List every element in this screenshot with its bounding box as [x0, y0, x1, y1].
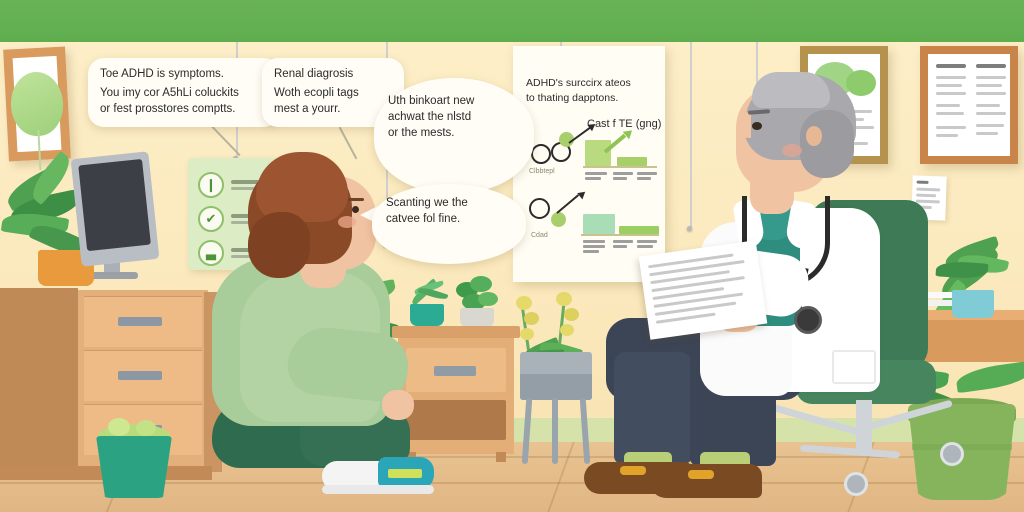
balloon-frame-left [3, 46, 71, 161]
chart-icon: ▃ [198, 240, 224, 266]
header-band [0, 0, 1024, 42]
cabinet-side [0, 288, 78, 478]
bubble-line: Uth binkoart new [388, 94, 520, 110]
poster-headline: ADHD's surccirx ateos to thating dappton… [526, 76, 631, 106]
bubble-assessment: Uth binkoart new achwat the nlstd or the… [374, 78, 534, 194]
bar [585, 140, 611, 166]
pin-icon [687, 226, 692, 231]
desktop-monitor [71, 151, 160, 267]
bubble-line: Toe ADHD is symptoms. [100, 67, 268, 83]
bubble-line: or fest prosstores comptts. [100, 102, 268, 118]
bubble-line: achwat the nlstd [388, 110, 520, 126]
bubble-line: Woth ecopli tags [274, 86, 392, 102]
teal-pot [96, 436, 172, 498]
bar [583, 214, 615, 234]
bubble-line: mest a yourr. [274, 102, 392, 118]
stethoscope-chestpiece [794, 306, 822, 334]
clipboard-icon: ❙ [198, 172, 224, 198]
bubble-line: Renal diagrosis [274, 67, 392, 83]
monitor-base [88, 272, 138, 279]
chair-caster [844, 472, 868, 496]
bubble-patient: Scanting we the catvee fol fine. [372, 184, 526, 264]
clipboard-document[interactable] [639, 240, 768, 340]
node-hollow [529, 198, 550, 219]
patient-eye [352, 206, 359, 213]
coat-pocket [832, 350, 876, 384]
monitor-screen [78, 159, 151, 251]
arrow-head-icon [577, 189, 588, 200]
arrow-line [556, 194, 579, 214]
bubble-left-intake: Toe ADHD is symptoms. You imy cor A5hLi … [88, 58, 280, 127]
bubble-line: You imy cor A5hLi coluckits [100, 86, 268, 102]
bar [617, 157, 647, 166]
grey-plant-stand [520, 352, 592, 462]
node-hollow [531, 144, 551, 164]
cabinet-drawer[interactable] [84, 296, 202, 347]
bubble-line: or the mests. [388, 126, 520, 142]
patient-hand [382, 390, 414, 420]
adhd-info-poster: ADHD's surccirx ateos to thating dappton… [513, 46, 665, 282]
hanging-wire [690, 42, 692, 228]
nightstand-handle[interactable] [434, 366, 476, 376]
illustration-canvas: ADHD Diagnosis Proceess [0, 0, 1024, 512]
doctor-eye [752, 122, 762, 130]
cabinet-drawer[interactable] [84, 350, 202, 401]
node-filled [551, 212, 566, 227]
bar [631, 226, 659, 234]
node-label: Clbbtepl [529, 168, 555, 175]
balloon-icon [9, 71, 64, 138]
document-frame-right [920, 46, 1018, 164]
check-icon: ✔ [198, 206, 224, 232]
nightstand [398, 326, 514, 454]
doctor-ear [806, 126, 822, 146]
sneaker [322, 455, 434, 495]
bubble-line: catvee fol fine. [386, 212, 512, 228]
node-label: Cdad [531, 232, 548, 239]
chair-caster [940, 442, 964, 466]
poster-chart-caption: Cast f TE (gng) [587, 118, 661, 130]
bubble-line: Scanting we the [386, 196, 512, 212]
